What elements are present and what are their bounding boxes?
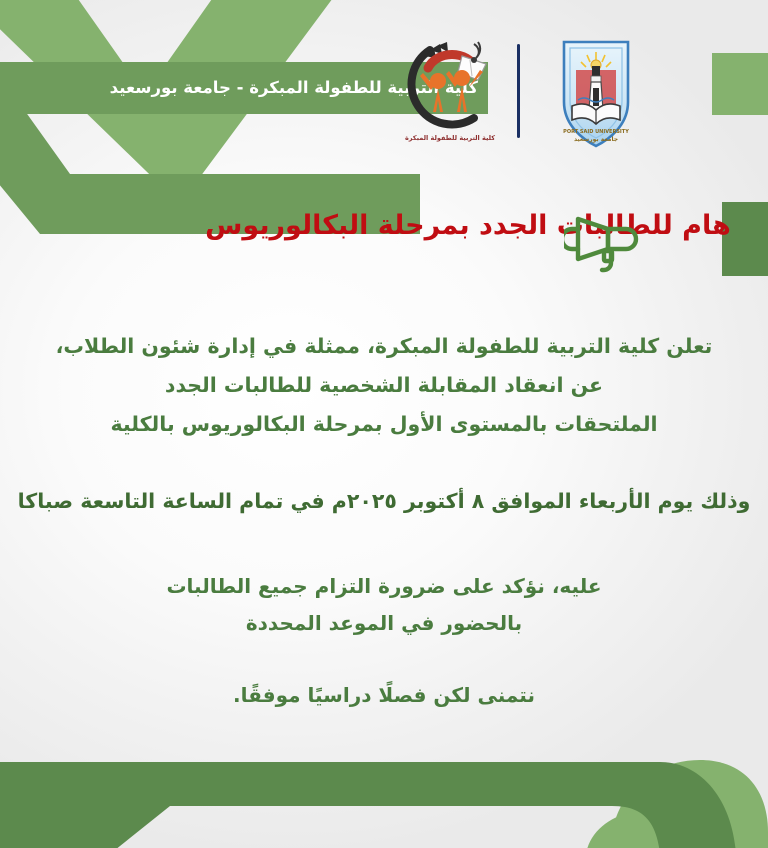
faculty-logo: كلية التربية للطفولة المبكرة: [400, 34, 500, 152]
confirm-line-2: بالحضور في الموعد المحددة: [0, 605, 768, 642]
svg-text:جامعة بورسعيد: جامعة بورسعيد: [574, 136, 618, 143]
svg-text:كلية التربية للطفولة المبكرة: كلية التربية للطفولة المبكرة: [405, 134, 495, 142]
intro-paragraph: تعلن كلية التربية للطفولة المبكرة، ممثلة…: [0, 327, 768, 444]
logo-divider: [517, 44, 520, 138]
intro-line-1: تعلن كلية التربية للطفولة المبكرة، ممثلة…: [0, 327, 768, 366]
page-title: هام للطالبات الجدد بمرحلة البكالوريوس: [168, 210, 768, 241]
confirmation-paragraph: عليه، نؤكد على ضرورة التزام جميع الطالبا…: [0, 568, 768, 642]
date-line: وذلك يوم الأربعاء الموافق ٨ أكتوبر ٢٠٢٥م…: [0, 489, 768, 513]
wishes-line: نتمنى لكن فصلًا دراسيًا موفقًا.: [0, 683, 768, 707]
announcement-poster: كلية التربية للطفولة المبكرة - جامعة بور…: [0, 0, 768, 848]
university-logo: PORT SAID UNIVERSITY جامعة بورسعيد: [546, 36, 646, 152]
intro-line-2: عن انعقاد المقابلة الشخصية للطالبات الجد…: [0, 366, 768, 405]
bottom-decoration: [0, 722, 768, 848]
poster-header: كلية التربية للطفولة المبكرة - جامعة بور…: [0, 0, 768, 160]
confirm-line-1: عليه، نؤكد على ضرورة التزام جميع الطالبا…: [0, 568, 768, 605]
svg-text:PORT SAID UNIVERSITY: PORT SAID UNIVERSITY: [563, 129, 629, 135]
intro-line-3: الملتحقات بالمستوى الأول بمرحلة البكالور…: [0, 405, 768, 444]
megaphone-icon: [564, 203, 640, 275]
